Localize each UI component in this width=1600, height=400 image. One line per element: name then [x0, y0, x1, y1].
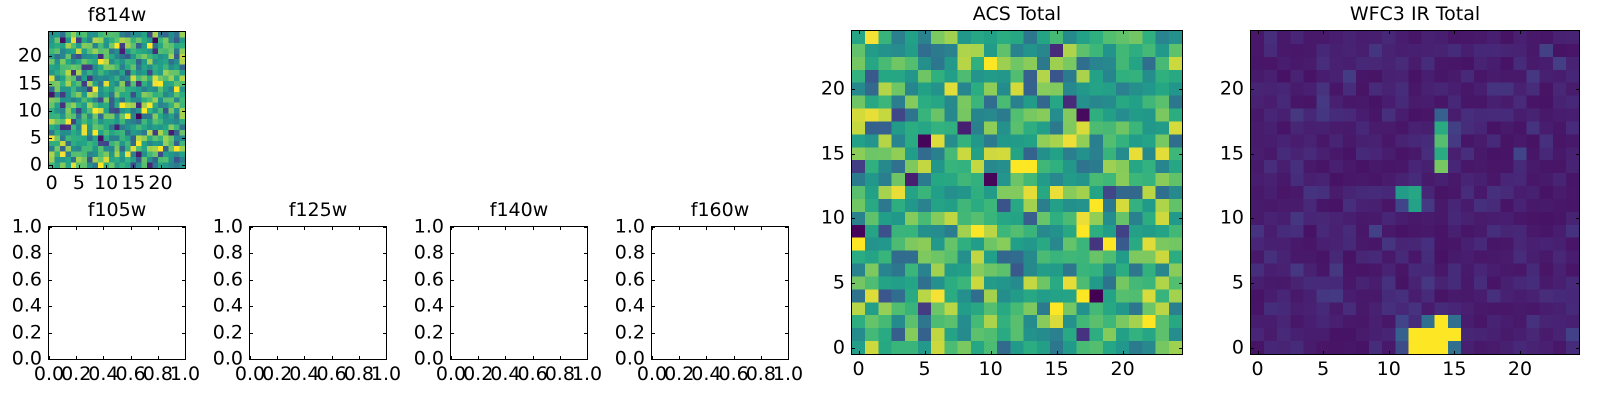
y-tick-mark	[249, 306, 253, 307]
y-tick-mark	[48, 56, 52, 57]
y-tick-label: 10	[18, 101, 42, 120]
y-tick-label: 0	[1232, 338, 1244, 357]
x-tick-mark	[103, 356, 104, 360]
x-tick-mark	[359, 356, 360, 360]
x-tick-mark	[158, 356, 159, 360]
y-tick-mark	[1250, 283, 1254, 284]
y-tick-label: 0.8	[414, 244, 444, 263]
x-tick-label: 1.0	[773, 365, 803, 384]
x-tick-label: 0.8	[143, 365, 173, 384]
axes-title-wfc3-ir-total: WFC3 IR Total	[1251, 5, 1579, 25]
y-tick-mark-right	[182, 165, 186, 166]
y-tick-mark	[651, 306, 655, 307]
x-tick-label: 0	[853, 360, 865, 379]
y-tick-mark	[249, 227, 253, 228]
y-tick-mark-right	[785, 280, 789, 281]
x-tick-mark-top	[79, 31, 80, 35]
x-tick-label: 0.4	[88, 365, 118, 384]
y-tick-label: 0.0	[615, 350, 645, 369]
axes-title-f160w: f160w	[652, 201, 788, 221]
x-tick-mark-top	[679, 226, 680, 230]
x-tick-mark-top	[761, 226, 762, 230]
y-tick-mark	[48, 306, 52, 307]
x-tick-label: 10	[979, 360, 1003, 379]
y-tick-mark-right	[182, 56, 186, 57]
y-tick-mark	[450, 280, 454, 281]
y-tick-mark-right	[383, 280, 387, 281]
x-tick-mark-top	[304, 226, 305, 230]
x-tick-mark-top	[359, 226, 360, 230]
x-tick-mark	[1454, 351, 1455, 355]
y-tick-mark-right	[1576, 154, 1580, 155]
y-tick-label: 0.2	[213, 323, 243, 342]
y-tick-mark-right	[1576, 218, 1580, 219]
x-tick-label: 0.8	[545, 365, 575, 384]
y-tick-mark-right	[182, 227, 186, 228]
y-tick-mark	[851, 218, 855, 219]
y-tick-mark	[1250, 348, 1254, 349]
y-tick-label: 15	[18, 74, 42, 93]
y-tick-mark-right	[1179, 348, 1183, 349]
x-tick-mark-top	[106, 31, 107, 35]
y-tick-mark-right	[785, 333, 789, 334]
x-tick-label: 15	[1045, 360, 1069, 379]
x-tick-mark-top	[332, 226, 333, 230]
x-tick-mark-top	[560, 226, 561, 230]
y-tick-mark	[450, 333, 454, 334]
y-tick-mark-right	[1576, 348, 1580, 349]
y-tick-label: 20	[821, 80, 845, 99]
axes-f160w[interactable]: f160w 0.00.20.40.60.81.00.00.20.40.60.81…	[651, 226, 789, 360]
y-tick-label: 15	[821, 144, 845, 163]
x-tick-mark	[560, 356, 561, 360]
x-tick-mark-top	[1123, 30, 1124, 34]
heatmap-image-f814w	[49, 32, 185, 168]
y-tick-label: 5	[30, 129, 42, 148]
y-tick-mark	[48, 333, 52, 334]
y-tick-mark	[48, 280, 52, 281]
x-tick-mark-top	[859, 30, 860, 34]
y-tick-label: 0	[30, 156, 42, 175]
x-tick-mark-top	[277, 226, 278, 230]
axes-title-f140w: f140w	[451, 201, 587, 221]
y-tick-mark-right	[1179, 154, 1183, 155]
y-tick-mark	[651, 227, 655, 228]
x-tick-label: 20	[148, 174, 172, 193]
y-tick-mark-right	[584, 227, 588, 228]
x-tick-label: 10	[94, 174, 118, 193]
x-tick-mark	[761, 356, 762, 360]
x-tick-mark-top	[533, 226, 534, 230]
x-tick-mark	[478, 356, 479, 360]
x-tick-mark-top	[706, 226, 707, 230]
x-tick-mark	[925, 351, 926, 355]
x-tick-mark	[706, 356, 707, 360]
x-tick-mark-top	[131, 226, 132, 230]
y-tick-mark	[48, 84, 52, 85]
y-tick-label: 0.6	[414, 270, 444, 289]
y-tick-label: 0.0	[213, 350, 243, 369]
y-tick-mark	[48, 227, 52, 228]
y-tick-label: 0.8	[12, 244, 42, 263]
x-tick-mark	[76, 356, 77, 360]
x-tick-mark	[133, 165, 134, 169]
y-tick-mark	[651, 253, 655, 254]
y-tick-label: 1.0	[12, 218, 42, 237]
y-tick-mark-right	[584, 359, 588, 360]
y-tick-mark	[48, 138, 52, 139]
x-tick-label: 0.2	[463, 365, 493, 384]
x-tick-mark	[1123, 351, 1124, 355]
y-tick-label: 10	[1220, 209, 1244, 228]
y-tick-label: 0.6	[12, 270, 42, 289]
x-tick-mark	[679, 356, 680, 360]
x-tick-mark-top	[1258, 30, 1259, 34]
y-tick-mark-right	[182, 333, 186, 334]
y-tick-label: 5	[833, 273, 845, 292]
axes-wfc3-ir-total[interactable]: WFC3 IR Total 0510152005101520	[1250, 30, 1580, 355]
y-tick-mark-right	[584, 306, 588, 307]
x-tick-mark	[332, 356, 333, 360]
x-tick-mark	[1520, 351, 1521, 355]
y-tick-label: 20	[1220, 80, 1244, 99]
x-tick-label: 1.0	[371, 365, 401, 384]
x-tick-mark-top	[478, 226, 479, 230]
x-tick-label: 0.4	[691, 365, 721, 384]
y-tick-mark-right	[182, 84, 186, 85]
y-tick-mark	[1250, 154, 1254, 155]
y-tick-mark-right	[1179, 218, 1183, 219]
x-tick-label: 0.6	[517, 365, 547, 384]
x-tick-mark	[1389, 351, 1390, 355]
y-tick-mark	[450, 306, 454, 307]
y-tick-mark-right	[182, 306, 186, 307]
y-tick-label: 0.6	[615, 270, 645, 289]
y-tick-label: 0.4	[12, 297, 42, 316]
x-tick-mark	[277, 356, 278, 360]
y-tick-label: 0.4	[213, 297, 243, 316]
y-tick-label: 0	[833, 338, 845, 357]
y-tick-label: 0.2	[12, 323, 42, 342]
x-tick-mark-top	[505, 226, 506, 230]
x-tick-mark	[734, 356, 735, 360]
y-tick-mark-right	[383, 253, 387, 254]
x-tick-label: 0.6	[316, 365, 346, 384]
x-tick-label: 5	[73, 174, 85, 193]
axes-f140w[interactable]: f140w 0.00.20.40.60.81.00.00.20.40.60.81…	[450, 226, 588, 360]
x-tick-label: 15	[121, 174, 145, 193]
y-tick-label: 5	[1232, 273, 1244, 292]
y-tick-mark-right	[1576, 283, 1580, 284]
y-tick-mark-right	[383, 227, 387, 228]
x-tick-mark-top	[1520, 30, 1521, 34]
y-tick-mark	[249, 333, 253, 334]
x-tick-mark	[131, 356, 132, 360]
matplotlib-figure: f814w 0510152005101520 f105w 0.00.20.40.…	[0, 0, 1600, 400]
x-tick-mark-top	[158, 226, 159, 230]
y-tick-label: 10	[821, 209, 845, 228]
x-tick-mark-top	[1389, 30, 1390, 34]
y-tick-mark-right	[785, 359, 789, 360]
x-tick-mark	[79, 165, 80, 169]
heatmap-image-wfc3-ir-total	[1251, 31, 1579, 354]
x-tick-label: 0.4	[490, 365, 520, 384]
x-tick-label: 1.0	[170, 365, 200, 384]
y-tick-mark-right	[182, 280, 186, 281]
x-tick-mark-top	[734, 226, 735, 230]
y-tick-label: 0.4	[615, 297, 645, 316]
x-tick-mark-top	[76, 226, 77, 230]
x-tick-label: 0	[46, 174, 58, 193]
y-tick-mark	[1250, 89, 1254, 90]
y-tick-label: 1.0	[414, 218, 444, 237]
x-tick-mark	[991, 351, 992, 355]
y-tick-mark	[651, 333, 655, 334]
x-tick-mark	[161, 165, 162, 169]
axes-f125w[interactable]: f125w 0.00.20.40.60.81.00.00.20.40.60.81…	[249, 226, 387, 360]
x-tick-mark	[859, 351, 860, 355]
y-tick-mark	[249, 359, 253, 360]
y-tick-mark-right	[785, 227, 789, 228]
x-tick-label: 0.8	[746, 365, 776, 384]
y-tick-mark	[1250, 218, 1254, 219]
y-tick-label: 0.0	[414, 350, 444, 369]
y-tick-label: 1.0	[213, 218, 243, 237]
y-tick-mark	[651, 280, 655, 281]
y-tick-mark-right	[785, 253, 789, 254]
y-tick-mark-right	[785, 306, 789, 307]
y-tick-label: 15	[1220, 144, 1244, 163]
x-tick-mark	[505, 356, 506, 360]
axes-f814w[interactable]: f814w 0510152005101520	[48, 31, 186, 169]
y-tick-mark	[48, 253, 52, 254]
x-tick-label: 5	[1317, 360, 1329, 379]
x-tick-label: 20	[1111, 360, 1135, 379]
y-tick-label: 0.4	[414, 297, 444, 316]
y-tick-mark	[249, 253, 253, 254]
y-tick-mark-right	[182, 138, 186, 139]
x-tick-mark-top	[991, 30, 992, 34]
y-tick-mark-right	[584, 253, 588, 254]
x-tick-mark-top	[103, 226, 104, 230]
heatmap-image-acs-total	[852, 31, 1182, 354]
y-tick-mark-right	[182, 359, 186, 360]
y-tick-mark	[450, 359, 454, 360]
y-tick-mark	[851, 154, 855, 155]
x-tick-label: 0.8	[344, 365, 374, 384]
y-tick-mark-right	[182, 111, 186, 112]
axes-title-acs-total: ACS Total	[852, 5, 1182, 25]
y-tick-mark	[48, 111, 52, 112]
x-tick-label: 0.2	[664, 365, 694, 384]
x-tick-label: 0.4	[289, 365, 319, 384]
x-tick-label: 0.2	[61, 365, 91, 384]
y-tick-mark-right	[182, 253, 186, 254]
axes-title-f814w: f814w	[49, 6, 185, 26]
x-tick-label: 1.0	[572, 365, 602, 384]
y-tick-mark-right	[1179, 283, 1183, 284]
y-tick-mark-right	[383, 306, 387, 307]
axes-acs-total[interactable]: ACS Total 0510152005101520	[851, 30, 1183, 355]
x-tick-mark-top	[1057, 30, 1058, 34]
x-tick-mark-top	[133, 31, 134, 35]
y-tick-mark	[651, 359, 655, 360]
y-tick-label: 0.2	[615, 323, 645, 342]
y-tick-mark	[851, 89, 855, 90]
axes-f105w[interactable]: f105w 0.00.20.40.60.81.00.00.20.40.60.81…	[48, 226, 186, 360]
x-tick-mark-top	[52, 31, 53, 35]
x-tick-label: 10	[1377, 360, 1401, 379]
x-tick-label: 0.6	[718, 365, 748, 384]
y-tick-label: 0.6	[213, 270, 243, 289]
x-tick-mark-top	[1454, 30, 1455, 34]
x-tick-mark	[1323, 351, 1324, 355]
y-tick-mark	[851, 283, 855, 284]
x-tick-mark	[533, 356, 534, 360]
x-tick-label: 0.2	[262, 365, 292, 384]
y-tick-mark	[48, 359, 52, 360]
y-tick-label: 0.8	[213, 244, 243, 263]
y-tick-label: 0.0	[12, 350, 42, 369]
x-tick-mark-top	[1323, 30, 1324, 34]
x-tick-label: 0	[1252, 360, 1264, 379]
x-tick-mark	[106, 165, 107, 169]
y-tick-mark	[851, 348, 855, 349]
x-tick-mark	[1057, 351, 1058, 355]
x-tick-mark-top	[925, 30, 926, 34]
y-tick-label: 0.8	[615, 244, 645, 263]
x-tick-label: 20	[1508, 360, 1532, 379]
y-tick-label: 0.2	[414, 323, 444, 342]
x-tick-mark-top	[161, 31, 162, 35]
x-tick-label: 5	[919, 360, 931, 379]
y-tick-mark-right	[1179, 89, 1183, 90]
y-tick-label: 20	[18, 47, 42, 66]
x-tick-mark	[1258, 351, 1259, 355]
x-tick-label: 0.6	[115, 365, 145, 384]
y-tick-mark	[450, 253, 454, 254]
axes-title-f125w: f125w	[250, 201, 386, 221]
y-tick-mark-right	[383, 359, 387, 360]
y-tick-mark	[450, 227, 454, 228]
x-tick-label: 15	[1442, 360, 1466, 379]
y-tick-mark-right	[1576, 89, 1580, 90]
y-tick-mark	[249, 280, 253, 281]
y-tick-mark-right	[584, 280, 588, 281]
y-tick-mark	[48, 165, 52, 166]
y-tick-mark-right	[383, 333, 387, 334]
axes-title-f105w: f105w	[49, 201, 185, 221]
y-tick-label: 1.0	[615, 218, 645, 237]
y-tick-mark-right	[584, 333, 588, 334]
x-tick-mark	[304, 356, 305, 360]
